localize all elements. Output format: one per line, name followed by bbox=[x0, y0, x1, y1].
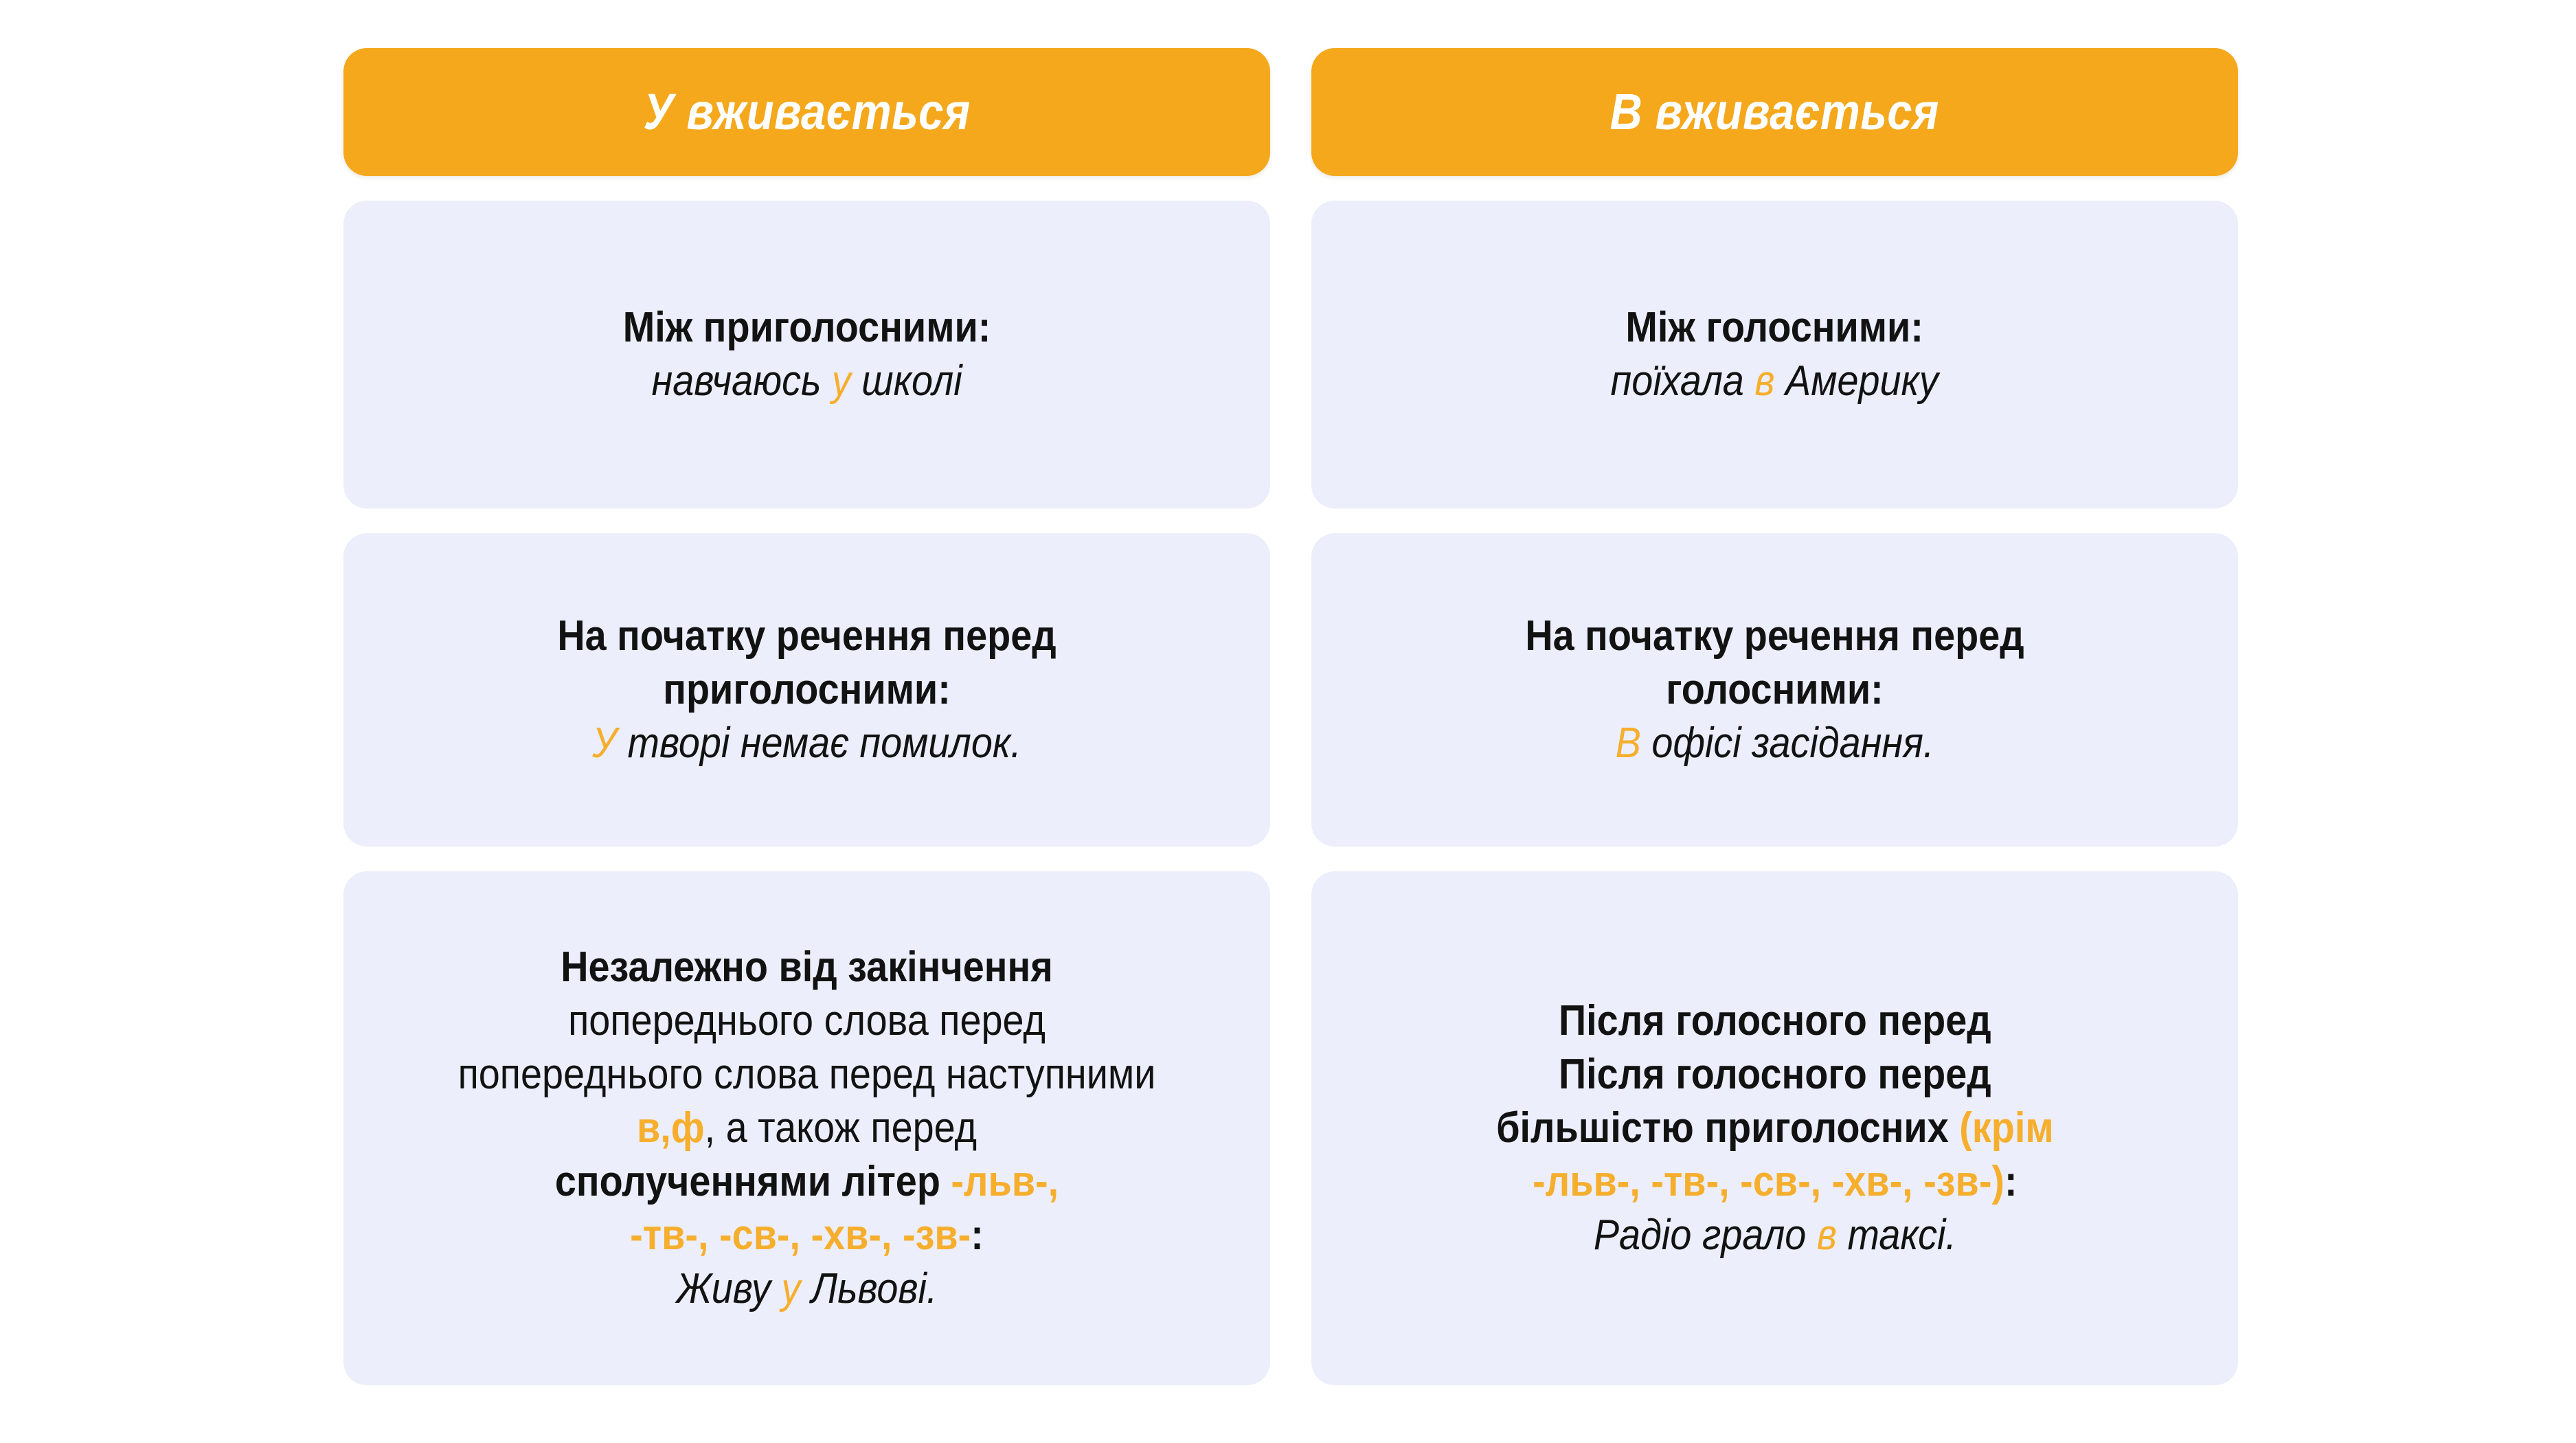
rule-example-u-3: Живу у Львові. bbox=[422, 1262, 1192, 1316]
rule-u-3-accent-combos-line1: -льв-, bbox=[951, 1158, 1059, 1205]
example-text-v-2: офісі засідання. bbox=[1641, 719, 1934, 767]
rule-example-v-3: Радіо грало в таксі. bbox=[1496, 1209, 2054, 1262]
rule-example-v-2: В офісі засідання. bbox=[1525, 717, 2024, 770]
rule-title-u-2-line1: На початку речення перед bbox=[557, 609, 1056, 663]
example-text-v-3a: Радіо грало bbox=[1593, 1211, 1816, 1259]
example-text-u-1b: школі bbox=[851, 357, 962, 405]
columns-container: У вживається Між приголосними: навчаюсь … bbox=[343, 48, 2238, 1395]
example-accent-u-3: у bbox=[781, 1265, 800, 1312]
rule-title-u-3-line2: попереднього слова перед bbox=[422, 994, 1192, 1048]
example-accent-v-1: в bbox=[1755, 357, 1775, 405]
rule-title-v-2-line2: голосними: bbox=[1525, 663, 2024, 717]
example-text-v-1a: поїхала bbox=[1611, 357, 1755, 405]
rule-card-u-2-body: На початку речення перед приголосними: У… bbox=[530, 609, 1084, 770]
rule-u-3-seg-c: сполученнями літер bbox=[555, 1158, 940, 1205]
rule-v-3-colon: : bbox=[2004, 1158, 2018, 1205]
rule-card-u-3-body: Незалежно від закінчення попереднього сл… bbox=[379, 941, 1234, 1317]
rule-u-3-colon: : bbox=[971, 1211, 984, 1259]
rule-u-3-seg-a: попереднього слова перед наступними bbox=[458, 1051, 1156, 1098]
rule-example-u-2: У творі немає помилок. bbox=[557, 717, 1056, 770]
example-text-u-1a: навчаюсь bbox=[651, 357, 831, 405]
column-header-v: В вживається bbox=[1311, 48, 2238, 176]
rule-u-3-space bbox=[940, 1158, 951, 1205]
rule-title-v-3-line4: -льв-, -тв-, -св-, -хв-, -зв-): bbox=[1496, 1155, 2054, 1209]
rule-title-u-3-line5: -тв-, -св-, -хв-, -зв-: bbox=[422, 1209, 1192, 1262]
rule-card-u-3: Незалежно від закінчення попереднього сл… bbox=[343, 871, 1270, 1385]
rule-card-u-1: Між приголосними: навчаюсь у школі bbox=[343, 201, 1270, 508]
example-text-u-3b: Львові. bbox=[800, 1265, 937, 1312]
rule-card-v-3-body: Після голосного перед Після голосного пе… bbox=[1465, 994, 2085, 1263]
rule-title-v-3-line1: Після голосного перед bbox=[1496, 994, 2054, 1048]
rule-title-v-3-line2: Після голосного перед bbox=[1496, 1048, 2054, 1101]
rule-title-u-3-line3: попереднього слова перед наступними в,ф,… bbox=[422, 1048, 1192, 1155]
rule-example-u-1: навчаюсь у школі bbox=[623, 355, 991, 408]
rule-u-3-accent-letters: в,ф bbox=[637, 1104, 705, 1152]
column-u: У вживається Між приголосними: навчаюсь … bbox=[343, 48, 1270, 1395]
rule-v-3-seg-a: Після голосного перед bbox=[1559, 1051, 1991, 1098]
example-text-u-3a: Живу bbox=[677, 1265, 782, 1312]
rule-u-3-seg-b: , а також перед bbox=[705, 1104, 977, 1152]
rule-v-3-seg-b: більшістю приголосних bbox=[1496, 1104, 1959, 1152]
rule-card-u-1-body: Між приголосними: навчаюсь у школі bbox=[602, 301, 1011, 408]
example-text-v-3b: таксі. bbox=[1837, 1211, 1956, 1259]
column-header-u: У вживається bbox=[343, 48, 1270, 176]
rule-card-v-3: Після голосного перед Після голосного пе… bbox=[1311, 871, 2238, 1385]
example-accent-u-1: у bbox=[832, 357, 851, 405]
grammar-comparison-board: У вживається Між приголосними: навчаюсь … bbox=[0, 0, 2576, 1443]
rule-v-3-accent-combos: -льв-, -тв-, -св-, -хв-, -зв-) bbox=[1533, 1158, 2004, 1205]
rule-v-3-accent-open: (крім bbox=[1959, 1104, 2053, 1152]
rule-title-u-1: Між приголосними: bbox=[623, 301, 991, 355]
column-header-u-label: У вживається bbox=[643, 85, 970, 139]
example-text-u-2: творі немає помилок. bbox=[617, 719, 1021, 767]
rule-card-v-1-body: Між голосними: поїхала в Америку bbox=[1592, 301, 1956, 408]
rule-title-v-2-line1: На початку речення перед bbox=[1525, 609, 2024, 663]
rule-u-3-accent-combos-line2: -тв-, -св-, -хв-, -зв- bbox=[630, 1211, 971, 1259]
rule-title-v-1: Між голосними: bbox=[1611, 301, 1939, 355]
rule-title-u-2-line2: приголосними: bbox=[557, 663, 1056, 717]
example-accent-v-3: в bbox=[1816, 1211, 1836, 1259]
rule-example-v-1: поїхала в Америку bbox=[1611, 355, 1939, 408]
rule-card-v-1: Між голосними: поїхала в Америку bbox=[1311, 201, 2238, 508]
rule-card-v-2-body: На початку речення перед голосними: В оф… bbox=[1498, 609, 2052, 770]
example-text-v-1b: Америку bbox=[1775, 357, 1939, 405]
column-v: В вживається Між голосними: поїхала в Ам… bbox=[1311, 48, 2238, 1395]
rule-card-u-2: На початку речення перед приголосними: У… bbox=[343, 533, 1270, 847]
rule-title-v-3-line3: більшістю приголосних (крім bbox=[1496, 1101, 2054, 1155]
example-accent-u-2: У bbox=[592, 719, 617, 767]
rule-card-v-2: На початку речення перед голосними: В оф… bbox=[1311, 533, 2238, 847]
column-header-v-label: В вживається bbox=[1610, 85, 1939, 139]
example-accent-v-2: В bbox=[1616, 719, 1641, 767]
rule-title-u-3-line1: Незалежно від закінчення bbox=[422, 941, 1192, 994]
rule-title-u-3-line4: сполученнями літер -льв-, bbox=[422, 1155, 1192, 1209]
